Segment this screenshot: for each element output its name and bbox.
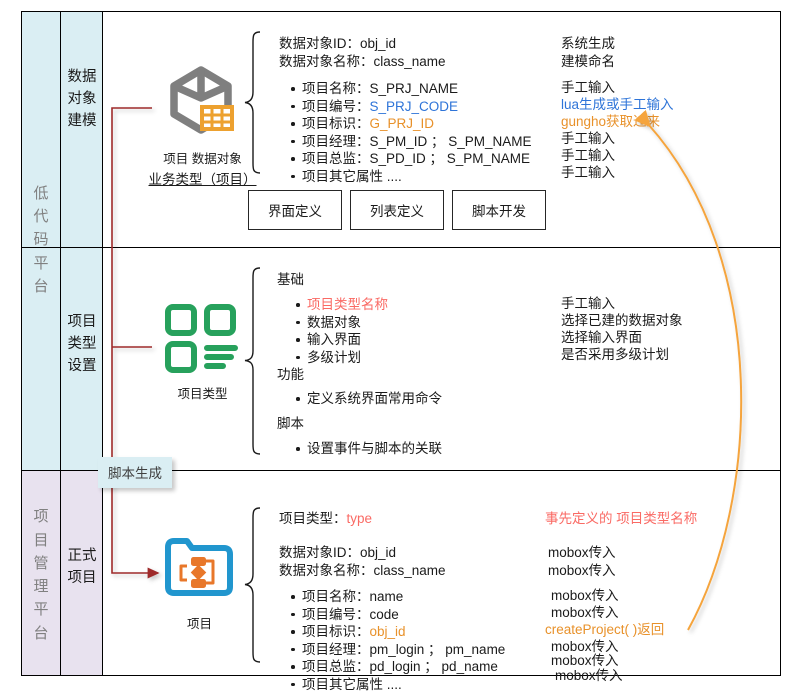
project-icon-caption: 项目	[152, 613, 247, 632]
s2-g1-b0: 定义系统界面常用命令	[307, 391, 442, 406]
s1-note-1: lua生成或手工输入	[561, 97, 674, 113]
list-item: 项目其它属性 ....	[302, 168, 532, 186]
s3-bullet-2-value: obj_id	[370, 624, 406, 639]
platform-label-low-code-char-0: 低	[33, 182, 48, 205]
platform-label-low-code: 低 代 码 平 台	[21, 150, 61, 330]
s1-note-2: gungho获取过来	[561, 114, 660, 130]
list-item: 项目经理：S_PM_ID ； S_PM_NAME	[302, 133, 532, 151]
ui-definition-box[interactable]: 界面定义	[248, 190, 342, 230]
s3-bullet-4-label: 项目总监：	[302, 659, 370, 674]
s2-group-1-list: 定义系统界面常用命令	[290, 390, 442, 408]
script-generation-callout[interactable]: 脚本生成	[98, 457, 172, 488]
stage-label-pts-line-0: 项目	[68, 312, 97, 334]
stage-label-dom-line-0: 数据	[68, 67, 97, 89]
s3-bullet-1-label: 项目编号：	[302, 607, 370, 622]
s3-bullet-3-label: 项目经理：	[302, 642, 370, 657]
brace-section3	[243, 506, 263, 664]
platform-label-pm-char-2: 管	[33, 552, 48, 575]
s3-bullet-5-label: 项目其它属性 ....	[302, 677, 402, 692]
list-item: 项目名称：S_PRJ_NAME	[302, 80, 532, 98]
list-item: 项目标识：G_PRJ_ID	[302, 115, 532, 133]
s1-bullet-4-value: S_PD_ID ； S_PM_NAME	[370, 151, 531, 166]
platform-label-pm-char-5: 台	[33, 622, 48, 645]
list-item: 项目总监：S_PD_ID ； S_PM_NAME	[302, 150, 532, 168]
s3-header-note-1: mobox传入	[548, 563, 616, 579]
s1-bullet-2-value: G_PRJ_ID	[370, 116, 435, 131]
stage-label-data-object-modeling: 数据 对象 建模	[61, 60, 103, 140]
s3-type-line: 项目类型：type	[279, 511, 372, 527]
s1-note-5: 手工输入	[561, 165, 615, 181]
s3-header-line-0: 数据对象ID：obj_id	[279, 545, 396, 561]
s1-note-0: 手工输入	[561, 80, 615, 96]
project-folder-flow-icon	[163, 535, 235, 606]
s2-g0-b2: 输入界面	[307, 332, 361, 347]
list-item: 项目编号：S_PRJ_CODE	[302, 98, 532, 116]
list-item: 输入界面	[307, 331, 388, 349]
s3-note-2: createProject( )返回	[545, 622, 664, 638]
platform-label-pm-char-1: 目	[33, 529, 48, 552]
stage-label-fp-line-0: 正式	[68, 546, 97, 568]
diagram-canvas: 低 代 码 平 台 项 目 管 理 平 台 数据 对象 建模 项目 类型 设置 …	[0, 0, 802, 697]
platform-label-low-code-char-4: 台	[33, 275, 48, 298]
data-object-cube-icon	[160, 62, 242, 149]
s3-note-1: mobox传入	[551, 605, 619, 621]
s1-bullet-1-value: S_PRJ_CODE	[370, 99, 459, 114]
s2-group-0-title: 基础	[277, 272, 304, 288]
s2-note-3: 是否采用多级计划	[561, 347, 669, 363]
s2-group-1-title: 功能	[277, 367, 304, 383]
s2-g0-b0: 项目类型名称	[307, 297, 388, 312]
s1-bullet-0-label: 项目名称：	[302, 81, 370, 96]
platform-label-pm-char-3: 理	[33, 575, 48, 598]
s1-note-header-1: 建模命名	[561, 54, 615, 70]
script-development-box[interactable]: 脚本开发	[452, 190, 546, 230]
list-item: 项目经理：pm_login ； pm_name	[302, 641, 505, 659]
s1-bullet-3-label: 项目经理：	[302, 134, 370, 149]
stage-cell-divider	[61, 247, 103, 248]
platform-label-project-management: 项 目 管 理 平 台	[21, 495, 61, 655]
stage-label-fp-line-1: 项目	[68, 568, 97, 590]
brace-section1	[243, 30, 263, 175]
stage-label-formal-project: 正式 项目	[61, 540, 103, 596]
s1-header-line-0: 数据对象ID：obj_id	[279, 36, 396, 52]
s3-type-value: type	[347, 511, 373, 526]
s2-g0-b3: 多级计划	[307, 350, 361, 365]
list-item: 项目标识：obj_id	[302, 623, 505, 641]
s3-type-note: 事先定义的 项目类型名称	[545, 511, 697, 527]
list-definition-box[interactable]: 列表定义	[350, 190, 444, 230]
s1-bullet-0-value: S_PRJ_NAME	[370, 81, 459, 96]
s2-group-2-title: 脚本	[277, 416, 304, 432]
s1-header-line-1: 数据对象名称：class_name	[279, 54, 446, 70]
project-type-grid-icon	[163, 300, 239, 381]
s1-attribute-list: 项目名称：S_PRJ_NAME 项目编号：S_PRJ_CODE 项目标识：G_P…	[285, 80, 532, 185]
s3-note-0: mobox传入	[551, 588, 619, 604]
s1-bullet-2-label: 项目标识：	[302, 116, 370, 131]
platform-label-low-code-char-3: 平	[33, 252, 48, 275]
stage-label-pts-line-2: 设置	[68, 356, 97, 378]
list-item: 多级计划	[307, 349, 388, 367]
s3-bullet-0-label: 项目名称：	[302, 589, 370, 604]
s2-g2-b0: 设置事件与脚本的关联	[307, 441, 442, 456]
s1-bullet-1-label: 项目编号：	[302, 99, 370, 114]
s1-note-header-0: 系统生成	[561, 36, 615, 52]
platform-label-pm-char-4: 平	[33, 598, 48, 621]
s3-type-label: 项目类型：	[279, 511, 347, 526]
row-divider-1	[21, 247, 781, 248]
platform-label-pm-char-0: 项	[33, 505, 48, 528]
s3-note-4: mobox传入	[551, 653, 619, 669]
stage-label-dom-line-1: 对象	[68, 89, 97, 111]
list-item: 项目类型名称	[307, 296, 388, 314]
list-item: 数据对象	[307, 314, 388, 332]
s2-note-0: 手工输入	[561, 296, 615, 312]
s1-bullet-4-label: 项目总监：	[302, 151, 370, 166]
s1-bullet-5-label: 项目其它属性 ....	[302, 169, 402, 184]
s3-attribute-list: 项目名称：name 项目编号：code 项目标识：obj_id 项目经理：pm_…	[285, 588, 505, 693]
list-item: 项目编号：code	[302, 606, 505, 624]
list-item: 设置事件与脚本的关联	[307, 440, 442, 458]
s1-bullet-3-value: S_PM_ID ； S_PM_NAME	[370, 134, 532, 149]
platform-label-low-code-char-2: 码	[33, 228, 48, 251]
s2-group-2-list: 设置事件与脚本的关联	[290, 440, 442, 458]
brace-section2	[243, 266, 263, 456]
project-type-icon-caption: 项目类型	[150, 383, 255, 402]
s3-bullet-2-label: 项目标识：	[302, 624, 370, 639]
s2-group-0-list: 项目类型名称 数据对象 输入界面 多级计划	[290, 296, 388, 366]
s3-bullet-0-value: name	[370, 589, 404, 604]
list-item: 定义系统界面常用命令	[307, 390, 442, 408]
s3-note-5: mobox传入	[555, 668, 623, 684]
s2-note-1: 选择已建的数据对象	[561, 313, 683, 329]
stage-label-pts-line-1: 类型	[68, 334, 97, 356]
platform-label-low-code-char-1: 代	[33, 205, 48, 228]
list-item: 项目总监：pd_login ； pd_name	[302, 658, 505, 676]
s3-header-line-1: 数据对象名称：class_name	[279, 563, 446, 579]
stage-label-project-type-setting: 项目 类型 设置	[61, 305, 103, 385]
s3-bullet-1-value: code	[370, 607, 399, 622]
list-item: 项目其它属性 ....	[302, 676, 505, 694]
list-item: 项目名称：name	[302, 588, 505, 606]
s3-header-note-0: mobox传入	[548, 545, 616, 561]
stage-label-dom-line-2: 建模	[68, 111, 97, 133]
s2-note-2: 选择输入界面	[561, 330, 642, 346]
s3-bullet-4-value: pd_login ； pd_name	[370, 659, 498, 674]
s3-bullet-3-value: pm_login ； pm_name	[370, 642, 506, 657]
s1-note-3: 手工输入	[561, 131, 615, 147]
s1-note-4: 手工输入	[561, 148, 615, 164]
s2-g0-b1: 数据对象	[307, 315, 361, 330]
